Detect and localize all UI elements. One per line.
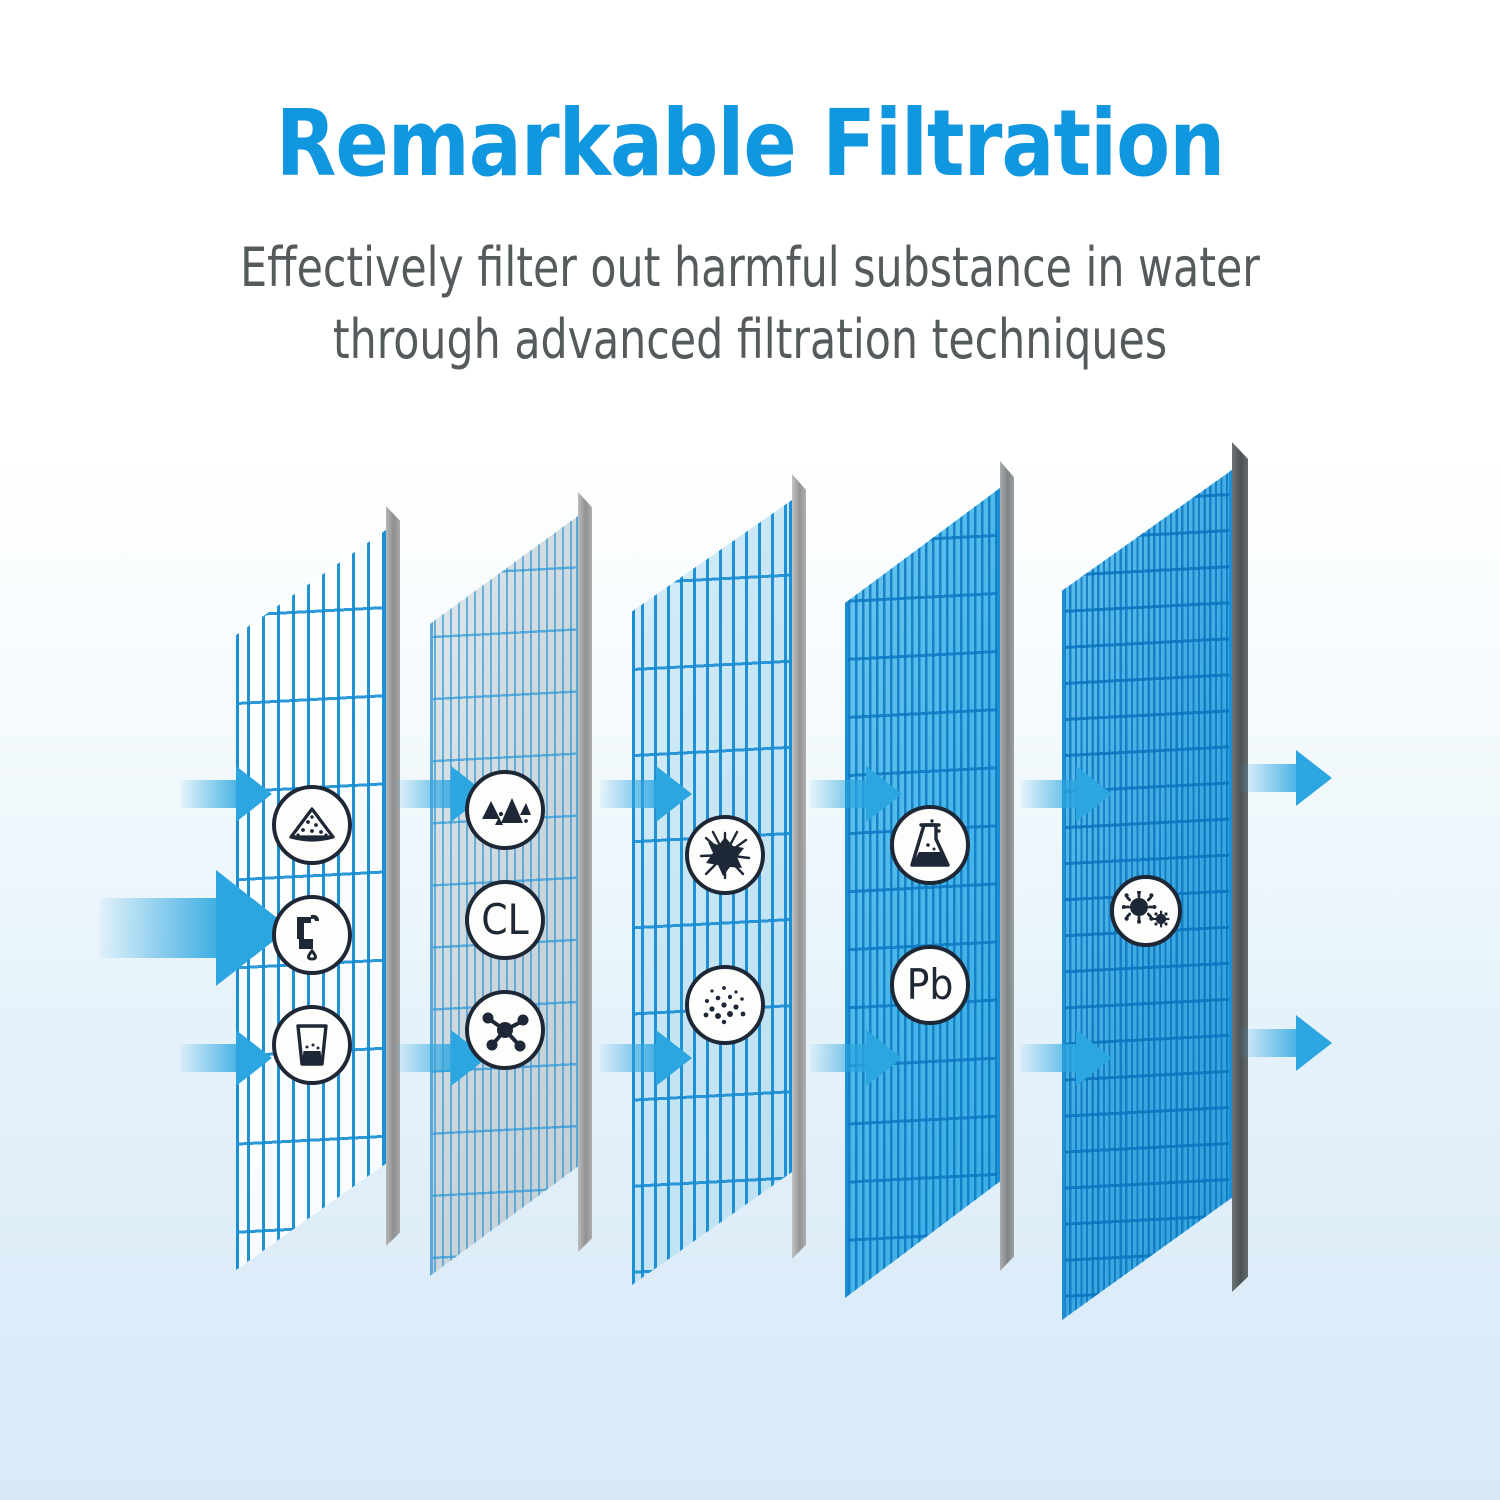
layer-4-mesh bbox=[845, 488, 1000, 1298]
interlayer-arrow-3-bottom bbox=[810, 1030, 902, 1086]
molecule-icon bbox=[465, 990, 545, 1070]
ink-stain-glyph bbox=[699, 830, 751, 880]
virus-glyph bbox=[1122, 891, 1170, 931]
outlet-arrow-top bbox=[1240, 750, 1332, 806]
subtitle-line-1: Effectively filter out harmful substance… bbox=[90, 232, 1410, 304]
ink-stain-icon bbox=[685, 815, 765, 895]
flask-glyph bbox=[907, 819, 953, 871]
outlet-arrow-bottom bbox=[1240, 1015, 1332, 1071]
glass-glyph bbox=[291, 1021, 333, 1069]
header: Remarkable Filtration Effectively filter… bbox=[0, 0, 1500, 377]
page-subtitle: Effectively filter out harmful substance… bbox=[90, 190, 1410, 377]
chlorine-label: CL bbox=[481, 899, 528, 941]
glass-of-dirty-water-icon bbox=[272, 1005, 352, 1085]
lead-label: Pb bbox=[907, 964, 954, 1006]
interlayer-arrow-4-bottom bbox=[1020, 1030, 1112, 1086]
filtration-diagram: CL bbox=[0, 470, 1500, 1430]
inlet-arrow-middle bbox=[100, 870, 290, 986]
sediment-pile-glyph bbox=[287, 806, 337, 844]
page-title: Remarkable Filtration bbox=[38, 0, 1463, 190]
layer-5-edge bbox=[1232, 442, 1248, 1292]
layer-3-edge bbox=[792, 474, 806, 1259]
filter-layer-4 bbox=[845, 488, 1000, 1298]
rust-particles-icon bbox=[465, 770, 545, 850]
interlayer-arrow-3-top bbox=[810, 766, 902, 822]
layer-1-edge bbox=[386, 506, 400, 1246]
lead-icon: Pb bbox=[890, 945, 970, 1025]
inlet-arrow-top bbox=[180, 766, 272, 822]
layer-2-edge bbox=[578, 492, 592, 1252]
sediment-pile-icon bbox=[272, 785, 352, 865]
inlet-arrow-bottom bbox=[180, 1030, 272, 1086]
interlayer-arrow-2-bottom bbox=[600, 1030, 692, 1086]
bacteria-virus-icon bbox=[1110, 875, 1182, 947]
chemical-flask-icon bbox=[890, 805, 970, 885]
fine-particles-glyph bbox=[699, 983, 751, 1027]
interlayer-arrow-4-top bbox=[1020, 766, 1112, 822]
fine-particles-icon bbox=[685, 965, 765, 1045]
faucet-water-drop-icon bbox=[272, 895, 352, 975]
subtitle-line-2: through advanced filtration techniques bbox=[90, 304, 1410, 376]
infographic-poster: Remarkable Filtration Effectively filter… bbox=[0, 0, 1500, 1500]
interlayer-arrow-2-top bbox=[600, 766, 692, 822]
molecule-glyph bbox=[481, 1007, 529, 1053]
rust-particles-glyph bbox=[479, 793, 531, 827]
chlorine-icon: CL bbox=[465, 880, 545, 960]
faucet-glyph bbox=[289, 909, 335, 961]
layer-4-edge bbox=[1000, 461, 1014, 1271]
